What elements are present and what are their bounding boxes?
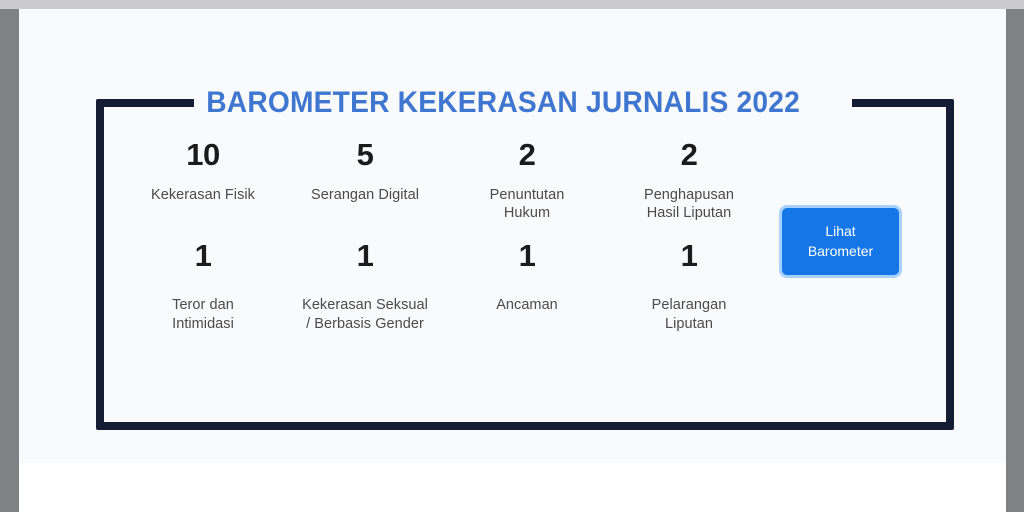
stat-cell-teror-dan-intimidasi: 1 Teror danIntimidasi xyxy=(122,236,284,332)
stats-and-action-wrap: 10 Kekerasan Fisik 5 Serangan Digital 2 … xyxy=(116,137,934,333)
stat-value: 5 xyxy=(288,137,442,173)
stat-cell-serangan-digital: 5 Serangan Digital xyxy=(284,137,446,222)
stat-label: Kekerasan Seksual/ Berbasis Gender xyxy=(288,296,442,333)
stat-value: 10 xyxy=(126,137,280,173)
stat-cell-kekerasan-fisik: 10 Kekerasan Fisik xyxy=(122,137,284,222)
stat-label: Ancaman xyxy=(450,296,604,314)
barometer-panel: BAROMETER KEKERASAN JURNALIS 2022 10 Kek… xyxy=(96,86,954,430)
statistics-grid: 10 Kekerasan Fisik 5 Serangan Digital 2 … xyxy=(122,137,770,333)
stat-value: 2 xyxy=(450,137,604,173)
browser-viewport: BAROMETER KEKERASAN JURNALIS 2022 10 Kek… xyxy=(0,0,1024,512)
lihat-barometer-button-line2: Barometer xyxy=(789,241,892,261)
right-scroll-gutter[interactable] xyxy=(1006,9,1024,512)
lihat-barometer-button-line1: Lihat xyxy=(789,221,892,241)
stat-label: Kekerasan Fisik xyxy=(126,186,280,204)
stat-value: 1 xyxy=(288,236,442,274)
stat-value: 1 xyxy=(126,236,280,274)
stat-cell-pelarangan-liputan: 1 PelaranganLiputan xyxy=(608,236,770,332)
stat-value: 1 xyxy=(612,236,766,274)
stat-value: 2 xyxy=(612,137,766,173)
stat-label: PelaranganLiputan xyxy=(612,296,766,333)
stat-cell-penghapusan-hasil-liputan: 2 PenghapusanHasil Liputan xyxy=(608,137,770,222)
stat-label: Teror danIntimidasi xyxy=(126,296,280,333)
stat-label: Serangan Digital xyxy=(288,186,442,204)
page-surface: BAROMETER KEKERASAN JURNALIS 2022 10 Kek… xyxy=(19,9,1006,512)
page-title: BAROMETER KEKERASAN JURNALIS 2022 xyxy=(194,86,812,119)
stat-cell-penuntutan-hukum: 2 PenuntutanHukum xyxy=(446,137,608,222)
stat-label: PenuntutanHukum xyxy=(450,186,604,223)
action-column: Lihat Barometer xyxy=(770,137,899,275)
lihat-barometer-button[interactable]: Lihat Barometer xyxy=(782,208,899,275)
stat-cell-kekerasan-seksual: 1 Kekerasan Seksual/ Berbasis Gender xyxy=(284,236,446,332)
browser-top-strip xyxy=(0,0,1024,9)
stat-cell-ancaman: 1 Ancaman xyxy=(446,236,608,332)
stat-label: PenghapusanHasil Liputan xyxy=(612,186,766,223)
left-scroll-gutter xyxy=(0,9,19,512)
stat-value: 1 xyxy=(450,236,604,274)
